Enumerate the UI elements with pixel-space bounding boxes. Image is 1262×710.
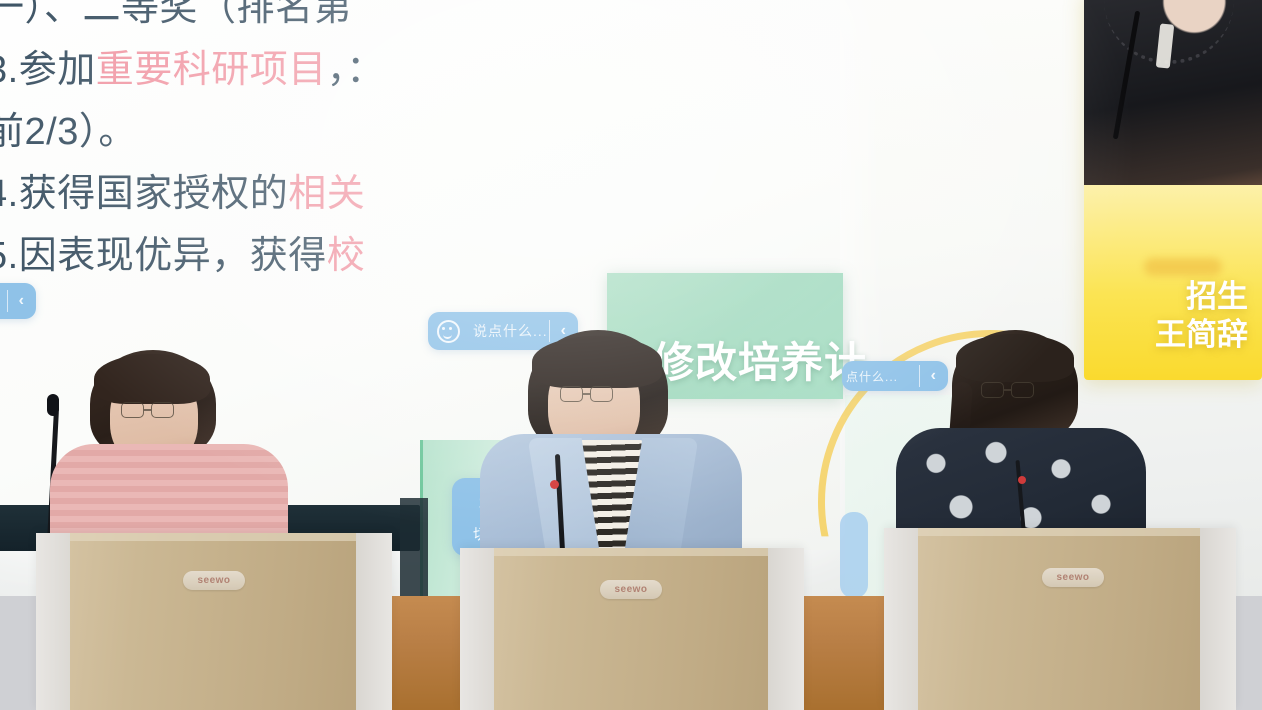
card-smear-decoration [1144,258,1222,276]
slide-line-5-highlight: 校 [327,235,366,277]
slide-bullet-text: 一）、二等奖（排名第 3.参加重要科研项目，： 前2/3）。 4.获得国家授权的… [0,0,456,288]
glasses-lens-l [560,386,583,402]
podium-logo-badge: seewo [183,571,245,590]
red-badge-pin-right [1018,476,1026,484]
hair-front-right [956,334,1074,382]
speaker-card-role: 招生 [1155,278,1248,316]
podium-center-side-r [768,548,804,710]
glasses-bridge-l [144,409,151,411]
glasses-bridge-c [583,393,590,395]
podium-right-side-r [1200,528,1236,710]
glasses-right [981,382,1034,398]
speaker-card-name: 王简辞 [1155,316,1248,354]
glasses-bridge-r [1004,389,1011,391]
slide-line-3: 前2/3）。 [0,102,456,164]
smiley-icon[interactable] [437,320,460,343]
slide-line-5: 5.因表现优异，获得校 [0,226,456,288]
podium-center: seewo [460,548,804,710]
slide-line-4-pre: 4.获得国家授权的 [0,173,288,215]
screenshot-stage: 一）、二等奖（排名第 3.参加重要科研项目，： 前2/3）。 4.获得国家授权的… [0,0,1262,710]
pill-divider-edge [7,290,8,312]
slide-line-4: 4.获得国家授权的相关 [0,164,456,226]
podium-logo-badge: seewo [600,580,662,599]
glasses-left [121,402,174,418]
speaker-right [902,330,1142,560]
glasses-lens-r [151,402,174,418]
speaker-card-photo [1084,0,1262,185]
hair-front-left [94,354,210,404]
comment-placeholder-secondary: 点什么... [846,368,898,385]
podium-right: seewo [884,528,1236,710]
slide-line-3-pre: 前2/3）。 [0,111,137,153]
speaker-card-text: 招生 王简辞 [1155,278,1248,354]
speaker-name-card: 招生 王简辞 [1084,0,1262,380]
podium-center-top [460,548,804,556]
slide-line-1: 一）、二等奖（排名第 [0,0,456,40]
podium-logo-badge: seewo [1042,568,1104,587]
slide-line-2-post: ，： [327,49,385,91]
slide-line-5-pre: 5.因表现优异，获得 [0,235,327,277]
blue-chip-decoration [840,512,868,598]
hair-front-center [532,336,662,388]
slide-line-4-highlight: 相关 [288,173,365,215]
podium-left-top [36,533,392,541]
podium-right-side-l [884,528,918,710]
slide-line-2-highlight: 重要科研项目 [96,49,327,91]
podium-left-side-r [356,533,392,710]
chevron-left-icon-edge[interactable]: ‹ [19,292,24,310]
glasses-lens-r [1011,382,1034,398]
podium-left: seewo [36,533,392,710]
glasses-lens-l [121,402,144,418]
glasses-center [560,386,613,402]
podium-right-top [884,528,1236,536]
comment-input-pill-edge[interactable]: ‹ [0,283,36,319]
slide-line-2-pre: 3.参加 [0,49,96,91]
mic-head-left [47,394,59,416]
red-badge-pin-center [550,480,559,489]
podium-left-side-l [36,533,70,710]
speaker-center [476,330,746,570]
slide-line-1-pre: 一）、二等奖（排名第 [0,0,352,29]
slide-line-2: 3.参加重要科研项目，： [0,40,456,102]
podium-center-side-l [460,548,494,710]
glasses-lens-l [981,382,1004,398]
glasses-lens-r [590,386,613,402]
